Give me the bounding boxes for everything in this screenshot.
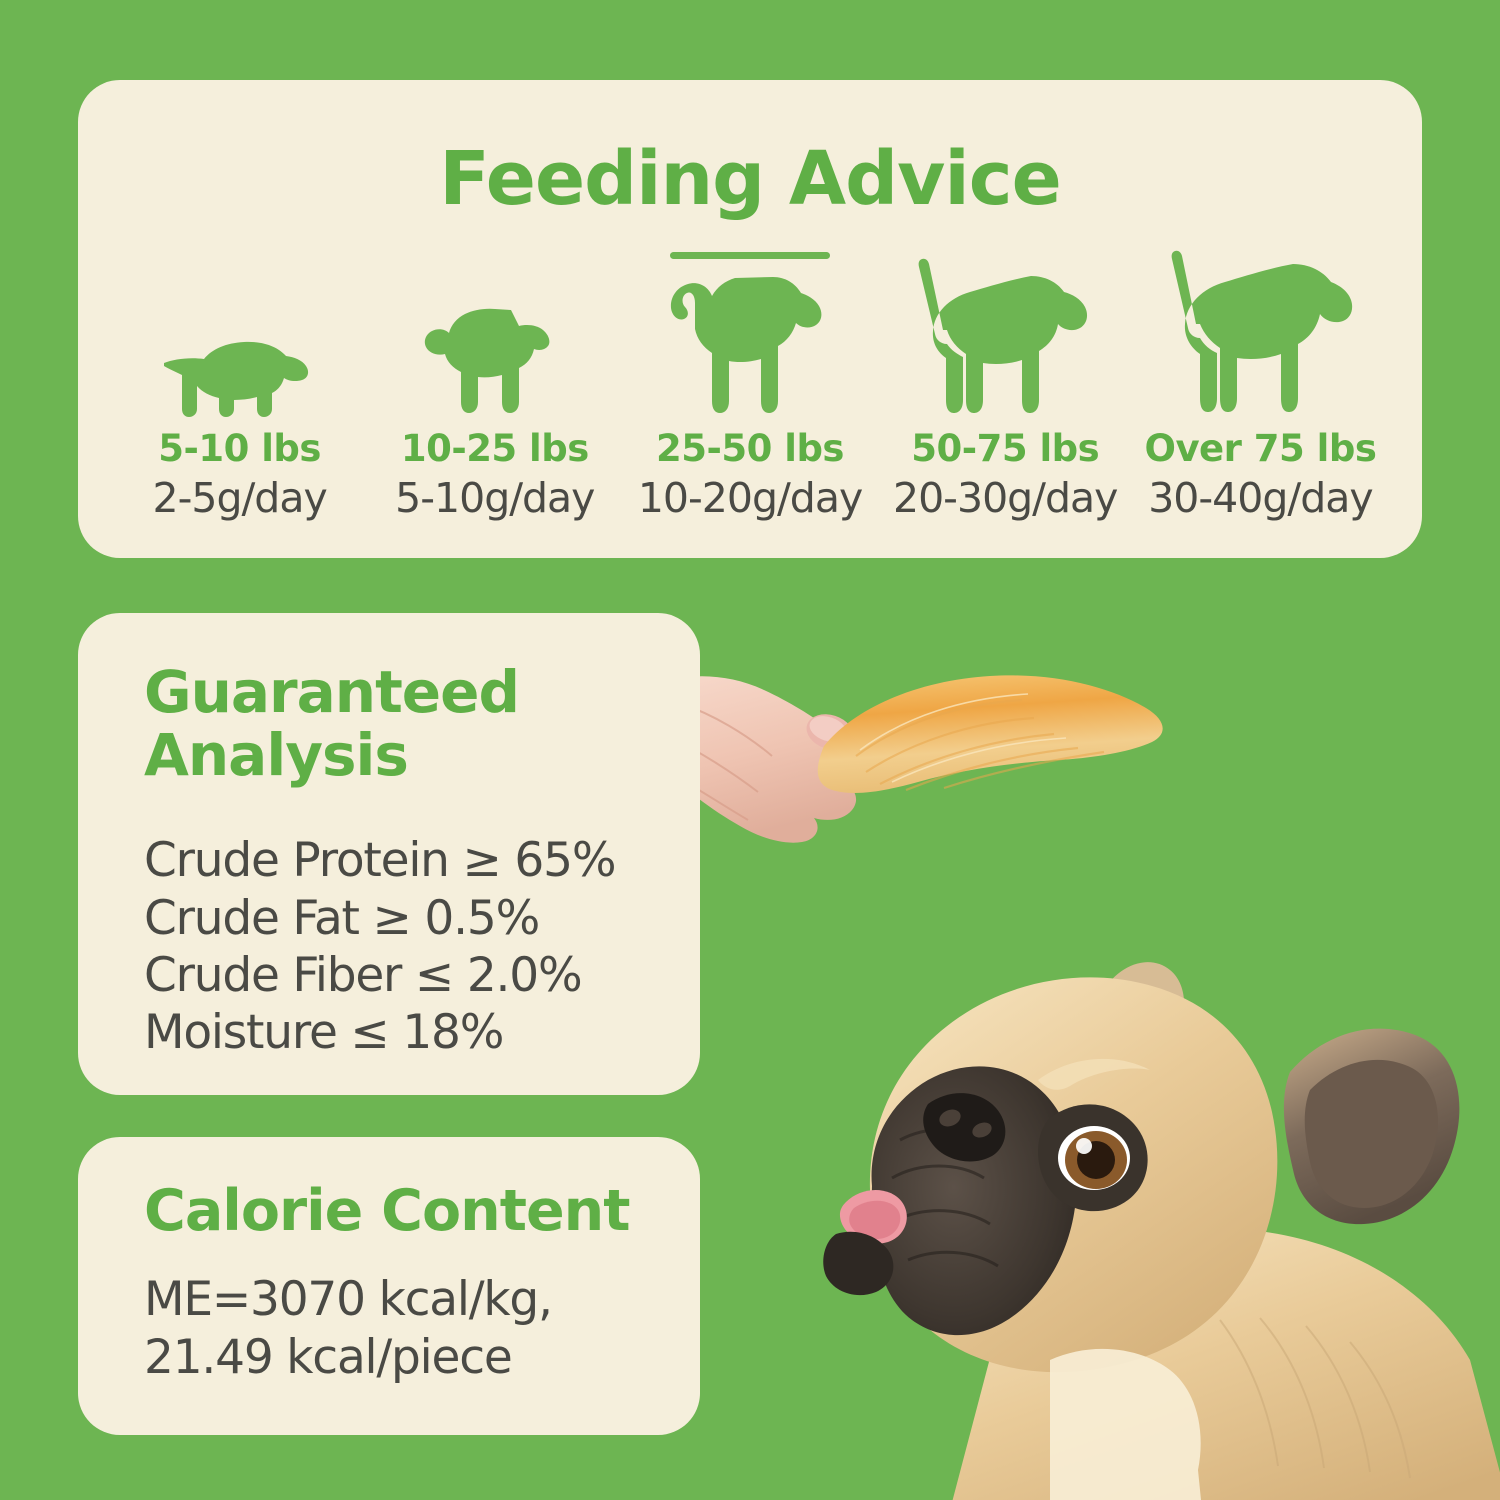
french-bulldog-looking-up-photo	[750, 890, 1500, 1500]
feeding-row-1-icon-cell	[367, 248, 622, 418]
daily-amount-4: 30-40g/day	[1133, 474, 1388, 523]
feeding-label-row: 5-10 lbs 2-5g/day 10-25 lbs 5-10g/day 25…	[78, 428, 1422, 523]
feeding-row-3-icon-cell	[878, 248, 1133, 418]
calorie-line-per-piece: 21.49 kcal/piece	[144, 1329, 700, 1388]
calorie-value-list: ME=3070 kcal/kg, 21.49 kcal/piece	[144, 1271, 700, 1389]
product-photo-area	[620, 620, 1500, 1500]
feeding-row-4-icon-cell	[1133, 248, 1388, 418]
weight-range-3: 50-75 lbs	[878, 428, 1133, 471]
feeding-row-0-icon-cell	[112, 248, 367, 418]
daily-amount-0: 2-5g/day	[112, 474, 367, 523]
feeding-advice-card: Feeding Advice	[78, 80, 1422, 558]
weight-range-4: Over 75 lbs	[1133, 428, 1388, 471]
large-hound-silhouette-icon	[915, 258, 1095, 418]
puppy-silhouette-icon	[160, 323, 320, 418]
weight-range-0: 5-10 lbs	[112, 428, 367, 471]
page-title: Feeding Advice	[78, 136, 1422, 222]
small-dog-silhouette-icon	[415, 298, 575, 418]
feeding-label-2: 25-50 lbs 10-20g/day	[622, 428, 877, 523]
analysis-item-crude-fat: Crude Fat ≥ 0.5%	[144, 890, 700, 947]
dog-size-icon-row	[78, 248, 1422, 418]
feeding-label-3: 50-75 lbs 20-30g/day	[878, 428, 1133, 523]
analysis-item-crude-protein: Crude Protein ≥ 65%	[144, 832, 700, 889]
weight-range-1: 10-25 lbs	[367, 428, 622, 471]
feeding-label-0: 5-10 lbs 2-5g/day	[112, 428, 367, 523]
feeding-row-2-icon-cell	[622, 248, 877, 418]
analysis-heading-line2: Analysis	[144, 724, 700, 787]
feeding-label-4: Over 75 lbs 30-40g/day	[1133, 428, 1388, 523]
weight-range-2: 25-50 lbs	[622, 428, 877, 471]
daily-amount-2: 10-20g/day	[622, 474, 877, 523]
calorie-line-per-kg: ME=3070 kcal/kg,	[144, 1271, 700, 1330]
daily-amount-1: 5-10g/day	[367, 474, 622, 523]
analysis-heading: Guaranteed Analysis	[144, 661, 700, 786]
daily-amount-3: 20-30g/day	[878, 474, 1133, 523]
analysis-item-crude-fiber: Crude Fiber ≤ 2.0%	[144, 947, 700, 1004]
calorie-content-card: Calorie Content ME=3070 kcal/kg, 21.49 k…	[78, 1137, 700, 1435]
feeding-label-1: 10-25 lbs 5-10g/day	[367, 428, 622, 523]
guaranteed-analysis-card: Guaranteed Analysis Crude Protein ≥ 65% …	[78, 613, 700, 1095]
xlarge-retriever-silhouette-icon	[1165, 250, 1355, 418]
analysis-list: Crude Protein ≥ 65% Crude Fat ≥ 0.5% Cru…	[144, 832, 700, 1061]
analysis-heading-line1: Guaranteed	[144, 661, 700, 724]
medium-terrier-silhouette-icon	[665, 273, 835, 418]
calorie-heading: Calorie Content	[144, 1181, 700, 1243]
analysis-item-moisture: Moisture ≤ 18%	[144, 1004, 700, 1061]
